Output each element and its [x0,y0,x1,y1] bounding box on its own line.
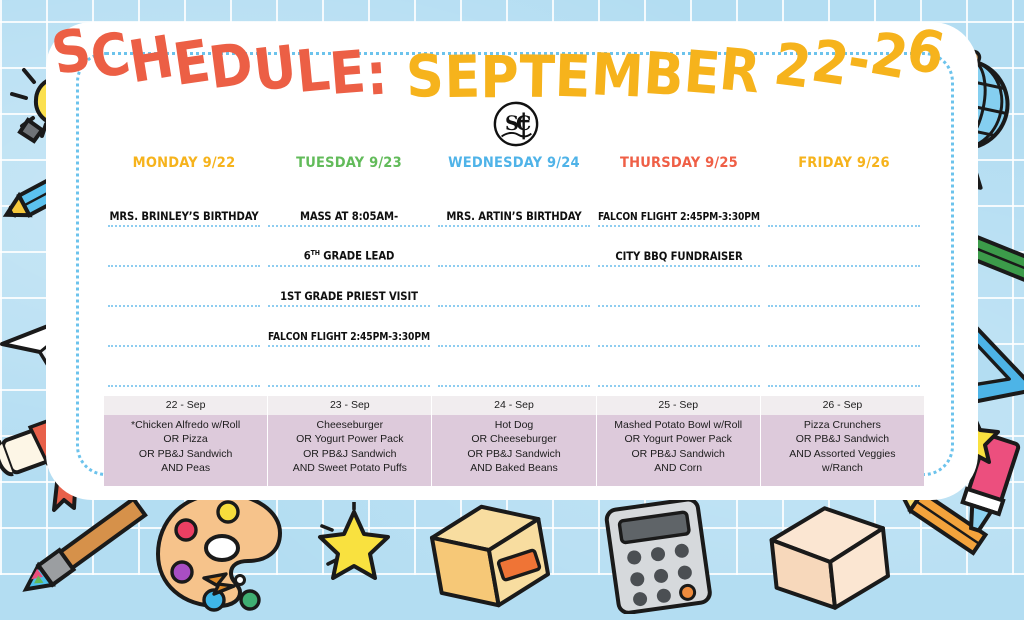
lunch-item: OR Yogurt Power Pack [270,432,429,446]
event-text: 6TH GRADE LEAD [304,249,395,263]
lunch-item: OR Pizza [106,432,265,446]
event-line[interactable] [438,227,590,267]
lunch-column: 22 - Sep *Chicken Alfredo w/Roll OR Pizz… [104,396,268,486]
lunch-column: 25 - Sep Mashed Potato Bowl w/Roll OR Yo… [597,396,761,486]
event-text: MRS. BRINLEY’S BIRTHDAY [109,210,258,223]
lunch-date-header: 23 - Sep [268,396,431,415]
event-text: FALCON FLIGHT 2:45PM-3:30PM [598,212,760,223]
event-line[interactable] [108,347,260,387]
lunch-items: Cheeseburger OR Yogurt Power Pack OR PB&… [268,415,431,486]
day-column-friday: FRIDAY 9/26 [764,155,924,390]
lunch-item: Hot Dog [434,418,593,432]
event-line[interactable]: FALCON FLIGHT 2:45PM-3:30PM [598,187,760,227]
day-column-tuesday: TUESDAY 9/23 MASS AT 8:05AM- 6TH GRADE L… [264,155,434,390]
lunch-item: AND Sweet Potato Puffs [270,461,429,475]
event-line[interactable] [438,307,590,347]
event-text: MRS. ARTIN’S BIRTHDAY [446,210,581,223]
lunch-items: Pizza Crunchers OR PB&J Sandwich AND Ass… [761,415,924,486]
lunch-date-header: 24 - Sep [432,396,595,415]
event-line[interactable] [108,227,260,267]
event-line[interactable] [768,347,920,387]
event-line[interactable] [768,267,920,307]
lunch-column: 23 - Sep Cheeseburger OR Yogurt Power Pa… [268,396,432,486]
event-line[interactable]: MRS. BRINLEY’S BIRTHDAY [108,187,260,227]
lunch-item: OR PB&J Sandwich [434,447,593,461]
lunch-item: OR PB&J Sandwich [270,447,429,461]
lunch-item: Cheeseburger [270,418,429,432]
lunch-date-header: 22 - Sep [104,396,267,415]
lunch-item: AND Corn [599,461,758,475]
day-header-tuesday: TUESDAY 9/23 [296,155,402,171]
day-header-thursday: THURSDAY 9/25 [620,155,738,171]
day-column-thursday: THURSDAY 9/25 FALCON FLIGHT 2:45PM-3:30P… [594,155,764,390]
event-line[interactable]: MRS. ARTIN’S BIRTHDAY [438,187,590,227]
lunch-item: AND Baked Beans [434,461,593,475]
lunch-item: AND Peas [106,461,265,475]
day-column-monday: MONDAY 9/22 MRS. BRINLEY’S BIRTHDAY [104,155,264,390]
day-lines-friday [768,187,920,387]
event-text: MASS AT 8:05AM- [300,210,398,223]
lunch-item: w/Ranch [763,461,922,475]
day-lines-monday: MRS. BRINLEY’S BIRTHDAY [108,187,260,387]
lunch-item: Mashed Potato Bowl w/Roll [599,418,758,432]
lunch-item: OR PB&J Sandwich [106,447,265,461]
event-line[interactable]: CITY BBQ FUNDRAISER [598,227,760,267]
event-line[interactable]: FALCON FLIGHT 2:45PM-3:30PM [268,307,430,347]
event-text: 1ST GRADE PRIEST VISIT [280,290,418,303]
lunch-item: AND Assorted Veggies [763,447,922,461]
event-line[interactable] [768,227,920,267]
lunch-item: Pizza Crunchers [763,418,922,432]
lunch-item: OR Yogurt Power Pack [599,432,758,446]
title-schedule-text: SCHEDULE: [58,62,389,79]
lunch-date-header: 25 - Sep [597,396,760,415]
day-header-friday: FRIDAY 9/26 [798,155,890,171]
event-line[interactable] [108,307,260,347]
lunch-column: 24 - Sep Hot Dog OR Cheeseburger OR PB&J… [432,396,596,486]
day-lines-tuesday: MASS AT 8:05AM- 6TH GRADE LEAD 1ST GRADE… [268,187,430,387]
day-lines-wednesday: MRS. ARTIN’S BIRTHDAY [438,187,590,387]
weekly-schedule-grid: MONDAY 9/22 MRS. BRINLEY’S BIRTHDAY TUES… [104,155,924,390]
title-date-range-text: SEPTEMBER 22-26 [393,62,938,79]
event-line[interactable]: 1ST GRADE PRIEST VISIT [268,267,430,307]
event-line[interactable] [438,347,590,387]
event-line[interactable] [598,307,760,347]
lunch-column: 26 - Sep Pizza Crunchers OR PB&J Sandwic… [761,396,924,486]
day-header-monday: MONDAY 9/22 [133,155,236,171]
day-lines-thursday: FALCON FLIGHT 2:45PM-3:30PM CITY BBQ FUN… [598,187,760,387]
lunch-item: OR Cheeseburger [434,432,593,446]
event-line[interactable]: MASS AT 8:05AM- [268,187,430,227]
day-column-wednesday: WEDNESDAY 9/24 MRS. ARTIN’S BIRTHDAY [434,155,594,390]
lunch-items: Hot Dog OR Cheeseburger OR PB&J Sandwich… [432,415,595,486]
day-header-wednesday: WEDNESDAY 9/24 [448,155,580,171]
sc-school-crest-logo: S C [492,100,540,148]
lunch-item: *Chicken Alfredo w/Roll [106,418,265,432]
event-line[interactable]: 6TH GRADE LEAD [268,227,430,267]
lunch-item: OR PB&J Sandwich [763,432,922,446]
event-line[interactable] [768,307,920,347]
lunch-menu-table: 22 - Sep *Chicken Alfredo w/Roll OR Pizz… [104,396,924,486]
event-line[interactable] [438,267,590,307]
event-line[interactable] [768,187,920,227]
event-text: CITY BBQ FUNDRAISER [615,250,742,263]
lunch-item: OR PB&J Sandwich [599,447,758,461]
event-line[interactable] [108,267,260,307]
event-line[interactable] [598,347,760,387]
event-text: FALCON FLIGHT 2:45PM-3:30PM [268,332,430,343]
lunch-date-header: 26 - Sep [761,396,924,415]
event-line[interactable] [268,347,430,387]
event-line[interactable] [598,267,760,307]
lunch-items: Mashed Potato Bowl w/Roll OR Yogurt Powe… [597,415,760,486]
lunch-items: *Chicken Alfredo w/Roll OR Pizza OR PB&J… [104,415,267,486]
